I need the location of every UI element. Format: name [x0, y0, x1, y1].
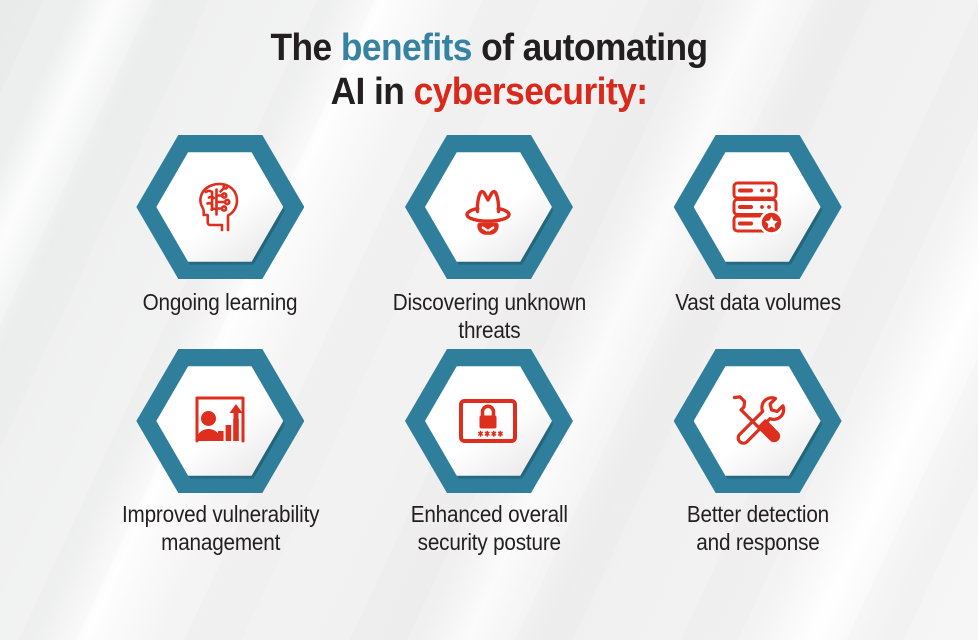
benefit-label: Better detection and response: [687, 500, 829, 556]
server-rack-star-icon: [725, 175, 789, 239]
title-accent-benefits: benefits: [341, 27, 472, 69]
brain-head-icon: [188, 175, 252, 239]
benefits-grid: Ongoing learning Dis: [0, 114, 978, 568]
wrench-screwdriver-icon: [725, 389, 789, 453]
hexagon-badge: [136, 132, 304, 282]
benefit-card-ongoing-learning[interactable]: Ongoing learning: [86, 132, 355, 344]
hexagon-badge: [136, 346, 304, 496]
benefit-card-detection-response[interactable]: Better detection and response: [623, 346, 892, 558]
infographic-canvas: The benefits of automating AI in cyberse…: [0, 0, 978, 640]
hexagon-badge: [405, 132, 573, 282]
page-title: The benefits of automating AI in cyberse…: [0, 0, 978, 114]
hexagon-badge: [674, 346, 842, 496]
benefit-label: Improved vulnerability management: [122, 500, 319, 556]
benefit-label: Enhanced overall security posture: [410, 500, 567, 556]
title-line-1: The benefits of automating: [34, 26, 944, 70]
benefit-card-security-posture[interactable]: Enhanced overall security posture: [355, 346, 624, 558]
title-text-of-automating: of automating: [472, 27, 708, 69]
benefit-label: Vast data volumes: [675, 288, 841, 316]
spy-hat-mask-icon: [456, 175, 520, 239]
benefit-label: Ongoing learning: [143, 288, 298, 316]
title-accent-cybersecurity: cybersecurity:: [414, 71, 648, 113]
person-growth-chart-icon: [188, 389, 252, 453]
benefit-card-discovering-threats[interactable]: Discovering unknown threats: [355, 132, 624, 344]
benefit-card-vulnerability-management[interactable]: Improved vulnerability management: [86, 346, 355, 558]
benefit-card-vast-data-volumes[interactable]: Vast data volumes: [623, 132, 892, 344]
password-lock-icon: [456, 389, 520, 453]
title-line-2: AI in cybersecurity:: [34, 70, 944, 114]
hexagon-badge: [405, 346, 573, 496]
title-text-the: The: [270, 27, 340, 69]
title-text-ai-in: AI in: [331, 71, 414, 113]
benefit-label: Discovering unknown threats: [392, 288, 585, 344]
hexagon-badge: [674, 132, 842, 282]
